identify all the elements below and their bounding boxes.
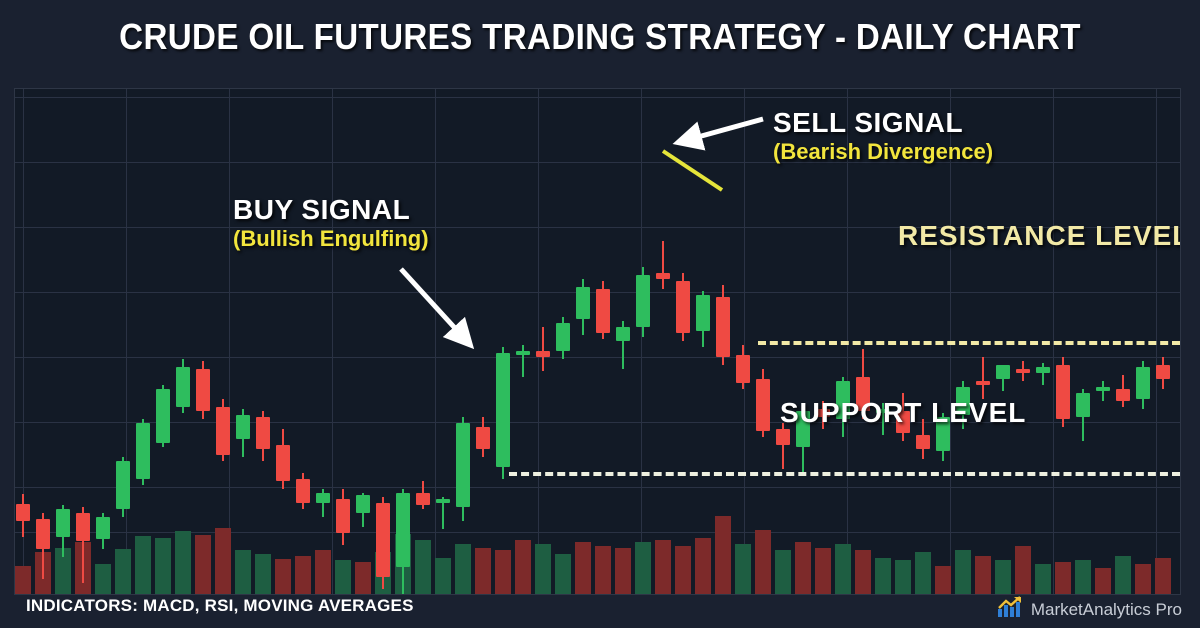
sell-signal-annotation: SELL SIGNAL (Bearish Divergence): [773, 107, 993, 165]
candlestick: [136, 89, 150, 595]
candlestick: [736, 89, 750, 595]
candlestick: [596, 89, 610, 595]
candle-body: [696, 295, 710, 331]
candle-wick: [1102, 381, 1104, 401]
candlestick: [656, 89, 670, 595]
candle-body: [296, 479, 310, 503]
buy-signal-subtitle: (Bullish Engulfing): [233, 226, 429, 252]
candle-body: [236, 415, 250, 439]
candle-body: [976, 381, 990, 385]
candle-body: [916, 435, 930, 449]
candlestick: [616, 89, 630, 595]
candle-body: [156, 389, 170, 443]
candlestick: [456, 89, 470, 595]
resistance-level-line: [758, 341, 1180, 345]
candlestick: [176, 89, 190, 595]
candle-body: [1096, 387, 1110, 391]
candle-body: [776, 429, 790, 445]
candle-body: [116, 461, 130, 509]
candlestick: [116, 89, 130, 595]
candlestick: [76, 89, 90, 595]
candle-body: [216, 407, 230, 455]
candle-body: [316, 493, 330, 503]
resistance-level-label: RESISTANCE LEVEL: [898, 220, 1181, 252]
candle-body: [1036, 367, 1050, 373]
candlestick: [576, 89, 590, 595]
candlestick: [516, 89, 530, 595]
candlestick: [296, 89, 310, 595]
candle-body: [36, 519, 50, 549]
candlestick: [156, 89, 170, 595]
candle-body: [1116, 389, 1130, 401]
candlestick: [276, 89, 290, 595]
candlestick: [236, 89, 250, 595]
candle-wick: [522, 345, 524, 377]
candle-body: [456, 423, 470, 507]
candlestick: [676, 89, 690, 595]
candlestick: [476, 89, 490, 595]
candlestick: [436, 89, 450, 595]
candle-body: [736, 355, 750, 383]
candle-wick: [982, 357, 984, 399]
brand-name: MarketAnalytics Pro: [1031, 600, 1182, 620]
candle-body: [436, 499, 450, 503]
candle-body: [1076, 393, 1090, 417]
candlestick: [36, 89, 50, 595]
candle-body: [516, 351, 530, 355]
candlestick: [696, 89, 710, 595]
buy-signal-arrow: [401, 269, 464, 338]
candle-body: [176, 367, 190, 407]
candle-body: [1156, 365, 1170, 379]
candle-body: [56, 509, 70, 537]
candlestick: [376, 89, 390, 595]
buy-signal-annotation: BUY SIGNAL (Bullish Engulfing): [233, 194, 429, 252]
candlestick: [316, 89, 330, 595]
candle-body: [396, 493, 410, 567]
candle-body: [96, 517, 110, 539]
candle-body: [336, 499, 350, 533]
candle-body: [596, 289, 610, 333]
candle-body: [536, 351, 550, 357]
candlestick: [196, 89, 210, 595]
candle-body: [676, 281, 690, 333]
candle-body: [1016, 369, 1030, 373]
candlestick: [716, 89, 730, 595]
grid-line-vertical: [332, 89, 333, 594]
page-title: CRUDE OIL FUTURES TRADING STRATEGY - DAI…: [48, 16, 1152, 58]
candle-body: [76, 513, 90, 541]
candle-body: [16, 504, 30, 521]
sell-signal-subtitle: (Bearish Divergence): [773, 139, 993, 165]
bearish-divergence-trendline: [663, 151, 722, 190]
price-chart-panel[interactable]: BUY SIGNAL (Bullish Engulfing) SELL SIGN…: [14, 88, 1181, 595]
candlestick: [256, 89, 270, 595]
candle-body: [656, 273, 670, 279]
candle-body: [356, 495, 370, 513]
candlestick: [356, 89, 370, 595]
candle-body: [476, 427, 490, 449]
candle-body: [1056, 365, 1070, 419]
candlestick: [16, 89, 30, 595]
candle-body: [376, 503, 390, 577]
candle-body: [576, 287, 590, 319]
candlestick: [636, 89, 650, 595]
candlestick: [416, 89, 430, 595]
candlestick: [496, 89, 510, 595]
candlestick: [96, 89, 110, 595]
support-level-label: SUPPORT LEVEL: [780, 397, 1026, 429]
candlestick: [336, 89, 350, 595]
candle-body: [496, 353, 510, 467]
candle-body: [196, 369, 210, 411]
chart-up-icon: [997, 596, 1023, 623]
candle-body: [136, 423, 150, 479]
candle-body: [716, 297, 730, 357]
support-level-line: [509, 472, 1180, 476]
indicators-footer-text: INDICATORS: MACD, RSI, MOVING AVERAGES: [26, 596, 414, 616]
candle-body: [556, 323, 570, 351]
candle-body: [636, 275, 650, 327]
candle-body: [1136, 367, 1150, 399]
candle-body: [256, 417, 270, 449]
brand-watermark: MarketAnalytics Pro: [997, 596, 1182, 623]
candlestick: [556, 89, 570, 595]
sell-signal-title: SELL SIGNAL: [773, 107, 993, 139]
candlestick: [536, 89, 550, 595]
candle-body: [616, 327, 630, 341]
candle-body: [996, 365, 1010, 379]
candlestick: [396, 89, 410, 595]
candlestick: [56, 89, 70, 595]
candle-wick: [662, 241, 664, 289]
candle-wick: [542, 327, 544, 371]
candle-body: [416, 493, 430, 505]
buy-signal-title: BUY SIGNAL: [233, 194, 429, 226]
candle-body: [756, 379, 770, 431]
candlestick: [216, 89, 230, 595]
candle-body: [276, 445, 290, 481]
